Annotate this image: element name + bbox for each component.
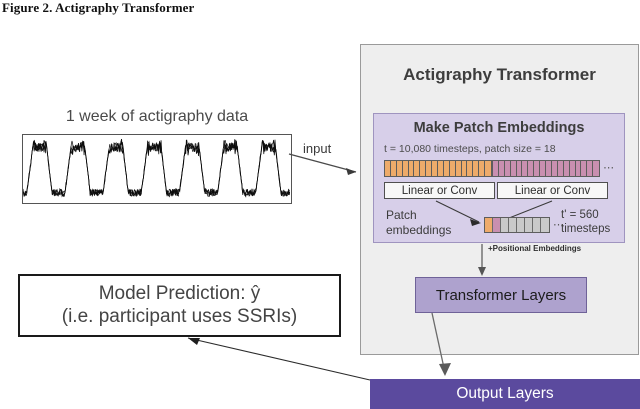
actigraphy-trace <box>23 140 290 196</box>
actigraphy-chart-title: 1 week of actigraphy data <box>22 108 292 126</box>
model-prediction-line-2: (i.e. participant uses SSRIs) <box>62 306 297 328</box>
model-prediction-box: Model Prediction: ŷ (i.e. participant us… <box>18 274 341 337</box>
patch-embedding-square <box>493 218 501 232</box>
reduced-timesteps-label: t' = 560 timesteps <box>561 208 610 236</box>
make-patch-embeddings-panel: Make Patch Embeddings t = 10,080 timeste… <box>373 113 625 243</box>
output-arrow-icon <box>430 312 460 380</box>
prediction-arrow-icon <box>180 330 376 386</box>
patch-embedding-square <box>541 218 549 232</box>
patch-embedding-square <box>533 218 541 232</box>
positional-embeddings-label: +Positional Embeddings <box>488 244 581 253</box>
input-arrow-icon <box>288 150 366 178</box>
patch-embeddings-label-line-2: embeddings <box>386 223 451 238</box>
figure-caption: Figure 2. Actigraphy Transformer <box>2 0 194 16</box>
actigraphy-trace <box>23 140 290 196</box>
panel-title: Actigraphy Transformer <box>361 65 638 85</box>
actigraphy-transformer-panel: Actigraphy Transformer Make Patch Embedd… <box>360 44 639 355</box>
patch-embedding-square-group <box>484 217 550 233</box>
patch-embedding-square <box>485 218 493 232</box>
actigraphy-chart <box>22 134 292 204</box>
patch-embedding-square <box>525 218 533 232</box>
actigraphy-trace <box>23 139 290 197</box>
output-layers-box[interactable]: Output Layers <box>370 379 640 409</box>
actigraphy-waveform-svg <box>23 135 290 202</box>
transformer-layers-box[interactable]: Transformer Layers <box>415 277 587 313</box>
reduced-timesteps-line-2: timesteps <box>561 222 610 236</box>
patch-embedding-squares: ⋯ <box>484 217 565 233</box>
patch-embeddings-label-line-1: Patch <box>386 208 451 223</box>
model-prediction-line-1: Model Prediction: ŷ <box>99 283 261 305</box>
patch-embedding-square <box>517 218 525 232</box>
reduced-timesteps-line-1: t' = 560 <box>561 208 610 222</box>
patch-embeddings-label: Patch embeddings <box>386 208 451 237</box>
figure-canvas: Figure 2. Actigraphy Transformer 1 week … <box>0 0 640 409</box>
patch-embedding-square <box>501 218 509 232</box>
patch-embedding-square <box>509 218 517 232</box>
